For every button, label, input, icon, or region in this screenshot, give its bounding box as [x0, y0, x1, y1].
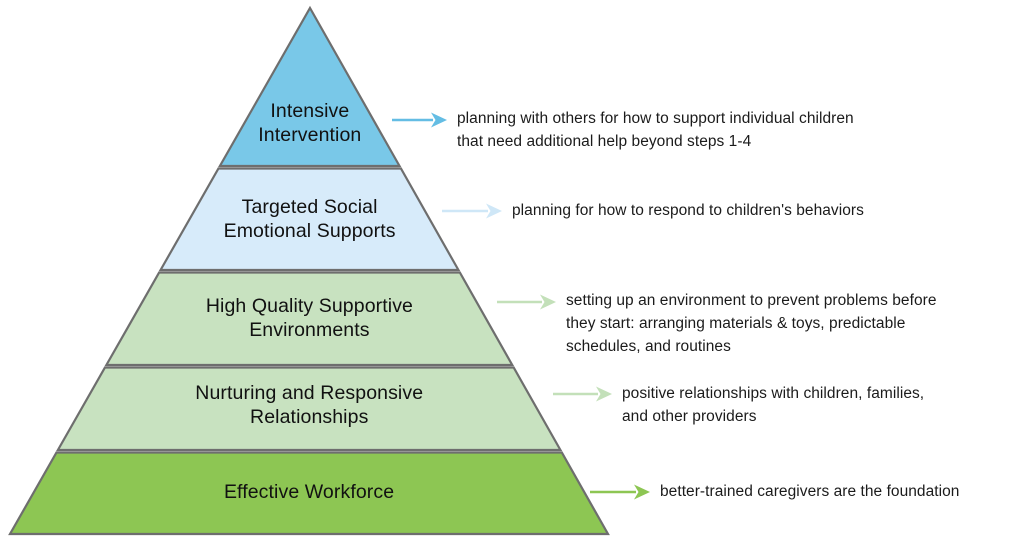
pyramid-graphic: [0, 0, 1024, 555]
arrow-head-nurturing-and-responsive-relationships: [596, 387, 612, 402]
arrow-head-high-quality-supportive-environments: [540, 295, 556, 310]
callout-text-intensive-intervention: planning with others for how to support …: [457, 108, 1020, 154]
arrow-head-targeted-social-emotional-supports: [486, 204, 502, 219]
callout-text-high-quality-supportive-environments: setting up an environment to prevent pro…: [566, 290, 1020, 359]
pyramid-tier-intensive-intervention: [220, 8, 400, 166]
arrow-head-effective-workforce: [634, 485, 650, 500]
pyramid-tier-nurturing-and-responsive-relationships: [58, 368, 561, 451]
pyramid-tier-targeted-social-emotional-supports: [161, 169, 459, 271]
pyramid-tier-high-quality-supportive-environments: [106, 273, 512, 366]
pyramid-tier-effective-workforce: [10, 453, 608, 535]
pyramid-tier-shapes: [10, 8, 608, 534]
arrow-head-intensive-intervention: [431, 113, 447, 128]
callout-text-effective-workforce: better-trained caregivers are the founda…: [660, 481, 1020, 504]
callout-text-targeted-social-emotional-supports: planning for how to respond to children'…: [512, 200, 1020, 223]
pyramid-diagram: Intensive InterventionTargeted Social Em…: [0, 0, 1024, 555]
callout-text-nurturing-and-responsive-relationships: positive relationships with children, fa…: [622, 383, 1020, 429]
